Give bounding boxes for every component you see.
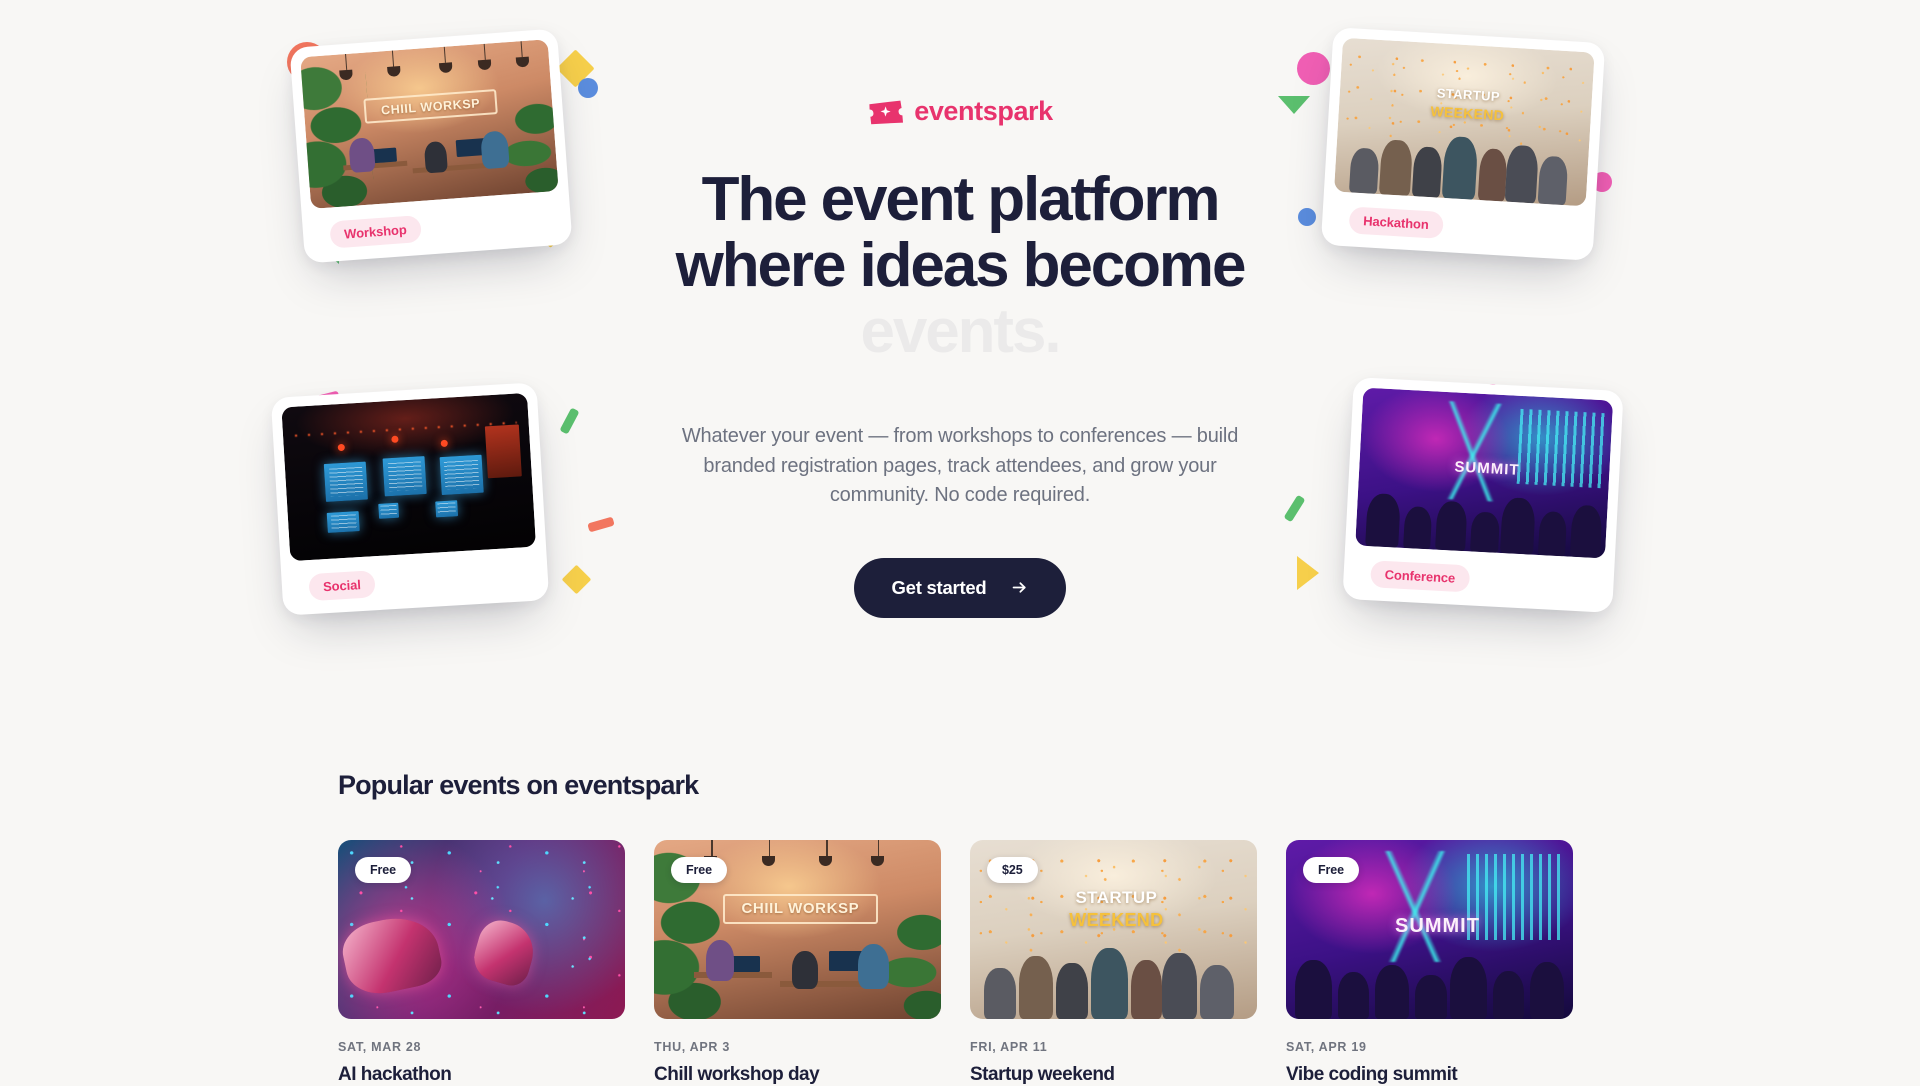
event-title: AI hackathon: [338, 1064, 625, 1086]
workshop-photo: CHIIL WORKSP: [300, 39, 558, 209]
blue-circle-decor-2: [1298, 208, 1316, 226]
hero-section: CHIIL WORKSP Workshop STARTUP WEEKEND: [0, 0, 1920, 740]
floating-card-workshop[interactable]: CHIIL WORKSP Workshop: [289, 28, 572, 263]
category-badge: Conference: [1370, 560, 1470, 592]
get-started-label: Get started: [892, 577, 987, 599]
hero-cta-area: Get started: [640, 558, 1280, 618]
hero-headline: The event platform where ideas become ev…: [640, 167, 1280, 365]
thumb-sign-text: SUMMIT: [1395, 915, 1567, 938]
hero-subheadline: Whatever your event — from workshops to …: [640, 422, 1280, 511]
event-date: THU, APR 3: [654, 1040, 941, 1054]
conference-audience: [1355, 479, 1608, 558]
event-price-badge: Free: [355, 857, 411, 883]
brand-name: eventspark: [914, 96, 1053, 127]
yellow-triangle-decor: [1297, 556, 1319, 590]
thumb-audience: [1286, 944, 1573, 1019]
popular-events-heading: Popular events on eventspark: [338, 770, 1920, 801]
event-price-badge: Free: [671, 857, 727, 883]
popular-events-grid: Free SAT, MAR 28 AI hackathon Free CHIIL…: [338, 840, 1920, 1086]
yellow-square-decor-2: [562, 565, 592, 595]
event-title: Startup weekend: [970, 1064, 1257, 1086]
thumb-sign-line1: STARTUP: [1045, 888, 1189, 908]
event-card[interactable]: Free CHIIL WORKSP THU, APR 3 Chill works…: [654, 840, 941, 1086]
event-price-badge: $25: [987, 857, 1038, 883]
floating-card-conference[interactable]: SUMMIT Conference: [1342, 377, 1623, 613]
green-slash-decor-2: [1284, 495, 1306, 523]
green-slash-decor-1: [559, 407, 579, 434]
ticket-sparkle-icon: [867, 99, 903, 125]
event-date: SAT, MAR 28: [338, 1040, 625, 1054]
get-started-button[interactable]: Get started: [854, 558, 1067, 618]
conference-photo: SUMMIT: [1355, 388, 1613, 559]
workshop-sign-text: CHIIL WORKSP: [363, 89, 498, 125]
hero-content: eventspark The event platform where idea…: [640, 96, 1280, 618]
arrow-right-icon: [1011, 579, 1028, 596]
event-thumbnail[interactable]: $25 STARTUP WEEKEND: [970, 840, 1257, 1019]
headline-line-3: events.: [640, 299, 1280, 365]
category-badge: Social: [308, 570, 375, 601]
coral-bar-decor: [587, 517, 614, 533]
event-thumbnail[interactable]: Free CHIIL WORKSP: [654, 840, 941, 1019]
floating-card-hackathon[interactable]: STARTUP WEEKEND Hackathon: [1321, 27, 1605, 261]
event-title: Chill workshop day: [654, 1064, 941, 1086]
category-badge: Workshop: [329, 215, 421, 249]
category-badge: Hackathon: [1349, 206, 1444, 239]
headline-line-1: The event platform: [640, 167, 1280, 233]
green-triangle-decor-2: [1278, 96, 1310, 114]
hackathon-photo: STARTUP WEEKEND: [1334, 38, 1595, 207]
headline-line-2: where ideas become: [640, 233, 1280, 299]
thumb-sign-line2: WEEKEND: [1039, 910, 1194, 931]
hackathon-crowd: [1334, 121, 1590, 207]
event-card[interactable]: Free SAT, MAR 28 AI hackathon: [338, 840, 625, 1086]
event-card[interactable]: $25 STARTUP WEEKEND FRI, APR 11 Startup …: [970, 840, 1257, 1086]
event-date: FRI, APR 11: [970, 1040, 1257, 1054]
event-card[interactable]: Free SUMMIT SAT, APR 19 Vibe coding summ…: [1286, 840, 1573, 1086]
popular-events-section: Popular events on eventspark Free SAT, M…: [0, 770, 1920, 1086]
social-photo: [281, 393, 536, 561]
event-title: Vibe coding summit: [1286, 1064, 1573, 1086]
blue-circle-decor-1: [578, 78, 598, 98]
brand-logo[interactable]: eventspark: [640, 96, 1280, 127]
pink-circle-decor-1: [1297, 52, 1330, 85]
event-date: SAT, APR 19: [1286, 1040, 1573, 1054]
event-thumbnail[interactable]: Free: [338, 840, 625, 1019]
event-thumbnail[interactable]: Free SUMMIT: [1286, 840, 1573, 1019]
floating-card-social[interactable]: Social: [271, 382, 549, 615]
event-price-badge: Free: [1303, 857, 1359, 883]
thumb-crowd: [970, 937, 1257, 1019]
thumb-sign-text: CHIIL WORKSP: [723, 894, 878, 924]
